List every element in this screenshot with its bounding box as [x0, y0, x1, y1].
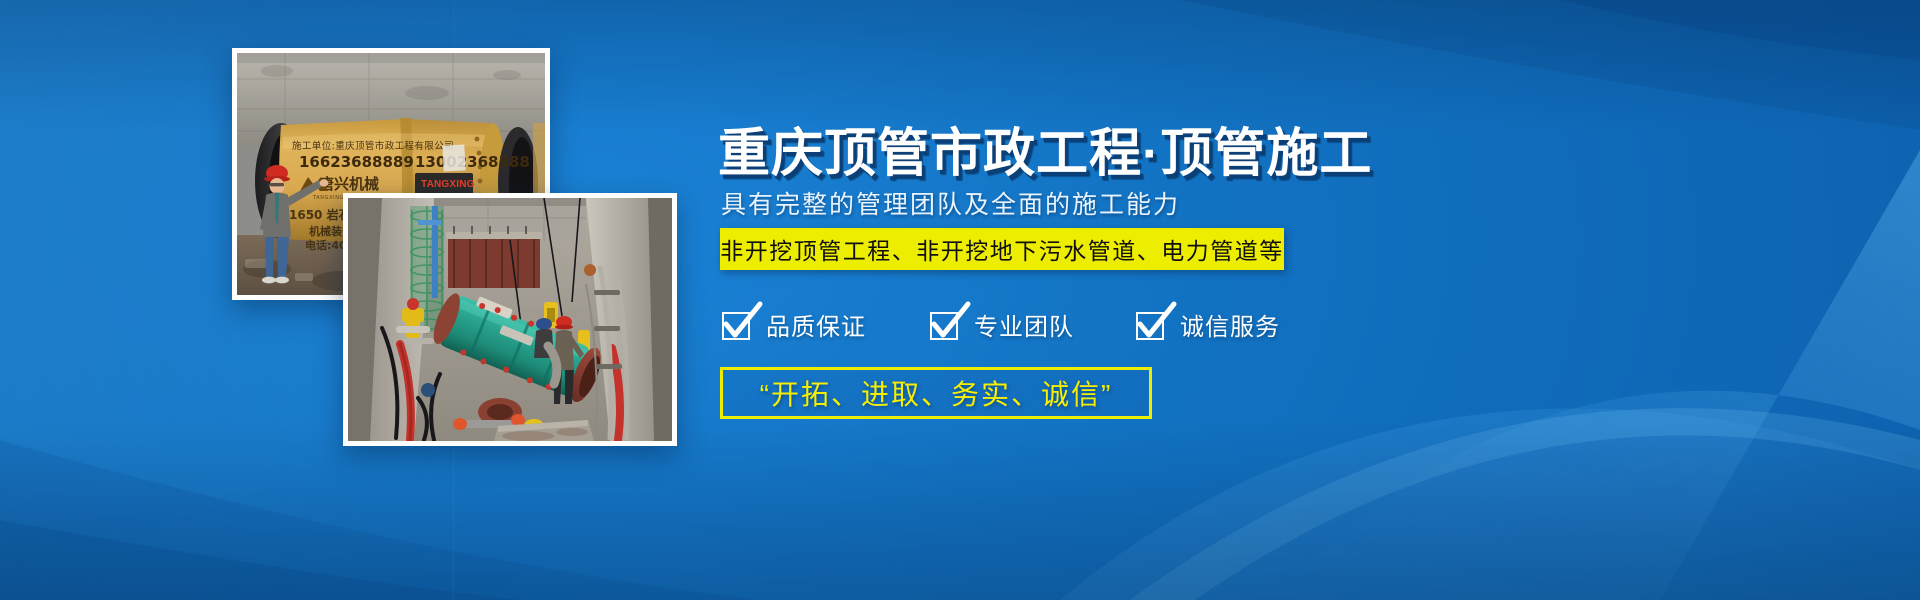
- hero-banner: 施工单位:重庆顶管市政工程有限公司 16623688889 1300236858…: [0, 0, 1920, 600]
- feature-item-integrity: 诚信服务: [1136, 307, 1280, 342]
- feature-item-label: 专业团队: [974, 307, 1074, 342]
- banner-content: 重庆顶管市政工程·顶管施工 具有完整的管理团队及全面的施工能力 非开挖顶管工程、…: [718, 0, 1918, 600]
- svg-text:16623688889: 16623688889: [299, 153, 414, 171]
- check-box-icon: [722, 308, 754, 340]
- feature-item-quality: 品质保证: [722, 307, 866, 342]
- feature-item-label: 品质保证: [766, 307, 866, 342]
- feature-item-label: 诚信服务: [1180, 307, 1280, 342]
- service-scope-band: 非开挖顶管工程、非开挖地下污水管道、电力管道等: [720, 228, 1284, 270]
- check-box-icon: [1136, 308, 1168, 340]
- company-slogan-box: “开拓、进取、务实、诚信”: [720, 367, 1152, 419]
- svg-text:TANGXING: TANGXING: [421, 179, 475, 190]
- photo-shaft-pipe-jacking-site-image: [348, 198, 672, 441]
- photo-shaft-pipe-jacking-site: [343, 193, 677, 446]
- feature-item-team: 专业团队: [930, 307, 1074, 342]
- feature-list: 品质保证 专业团队 诚信服务: [722, 300, 1342, 348]
- svg-text:施工单位:重庆顶管市政工程有限公司: 施工单位:重庆顶管市政工程有限公司: [292, 140, 454, 152]
- svg-text:13002368588: 13002368588: [415, 153, 530, 171]
- check-box-icon: [930, 308, 962, 340]
- company-slogan-text: “开拓、进取、务实、诚信”: [760, 373, 1113, 413]
- service-scope-text: 非开挖顶管工程、非开挖地下污水管道、电力管道等: [720, 232, 1284, 266]
- banner-headline: 重庆顶管市政工程·顶管施工: [718, 128, 1372, 180]
- banner-subtitle: 具有完整的管理团队及全面的施工能力: [721, 193, 1180, 218]
